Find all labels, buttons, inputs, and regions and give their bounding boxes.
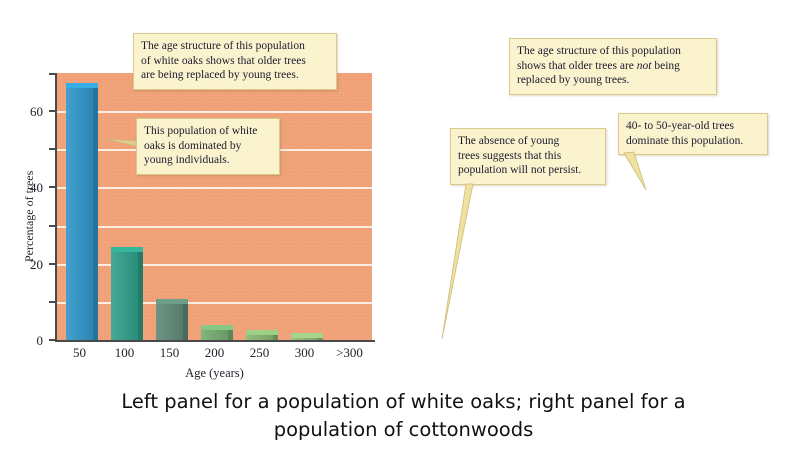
callout-line: This population of white bbox=[144, 124, 272, 139]
plot-area-left bbox=[57, 73, 372, 340]
figure-caption: Left panel for a population of white oak… bbox=[0, 388, 807, 445]
callout-line: of white oaks shows that older trees bbox=[141, 54, 329, 69]
bar-face bbox=[156, 304, 183, 340]
bar-face bbox=[66, 88, 93, 340]
x-axis-tick-label: 250 bbox=[237, 346, 282, 359]
y-axis-tick bbox=[49, 73, 56, 75]
y-axis-tick bbox=[49, 225, 56, 227]
gridline bbox=[57, 187, 372, 189]
callout-line: dominate this population. bbox=[626, 134, 760, 149]
bar bbox=[291, 333, 323, 340]
y-axis-tick bbox=[49, 110, 56, 112]
bar-side bbox=[183, 304, 188, 340]
x-axis-tick-label: >300 bbox=[327, 346, 372, 359]
callout-line: replaced by young trees. bbox=[517, 73, 709, 88]
y-axis-tick bbox=[49, 186, 56, 188]
callout-line: The age structure of this population bbox=[517, 44, 709, 59]
gridline bbox=[57, 111, 372, 113]
callout-line: The absence of young bbox=[458, 134, 598, 149]
bar bbox=[246, 330, 278, 340]
x-axis-line-left bbox=[55, 340, 375, 342]
y-axis-tick-label: 40 bbox=[13, 181, 43, 194]
gridline bbox=[57, 264, 372, 266]
bar-face bbox=[246, 335, 273, 340]
x-axis-title-left: Age (years) bbox=[57, 366, 372, 381]
x-axis-tick-label: 50 bbox=[57, 346, 102, 359]
gridline bbox=[57, 302, 372, 304]
bar-face bbox=[111, 252, 138, 340]
x-axis-tick-label: 200 bbox=[192, 346, 237, 359]
y-axis-tick-label: 20 bbox=[797, 258, 807, 271]
callout-right-40-50-dominate: 40- to 50-year-old treesdominate this po… bbox=[618, 113, 768, 155]
callout-left-dominated-young: This population of whiteoaks is dominate… bbox=[136, 118, 280, 175]
callout-line: population will not persist. bbox=[458, 163, 598, 178]
callout-emphasis: not bbox=[637, 60, 652, 72]
bar-face bbox=[291, 338, 318, 340]
callout-line: are being replaced by young trees. bbox=[141, 68, 329, 83]
bar-side bbox=[318, 338, 323, 340]
callout-left-age-structure: The age structure of this populationof w… bbox=[133, 33, 337, 90]
callout-line: young individuals. bbox=[144, 153, 272, 168]
x-axis-tick-label: 100 bbox=[102, 346, 147, 359]
callout-line: shows that older trees are not being bbox=[517, 59, 709, 74]
y-axis-tick-label: 0 bbox=[13, 334, 43, 347]
x-axis-tick-label: 150 bbox=[147, 346, 192, 359]
callout-right-age-structure: The age structure of this populationshow… bbox=[509, 38, 717, 95]
caption-line-2: population of cottonwoods bbox=[0, 416, 807, 444]
x-axis-tick-label: 300 bbox=[282, 346, 327, 359]
y-axis-tick-label: 60 bbox=[13, 105, 43, 118]
y-axis-tick-label: 0 bbox=[797, 334, 807, 347]
callout-line: trees suggests that this bbox=[458, 149, 598, 164]
bar-side bbox=[93, 88, 98, 340]
y-axis-tick-label: 60 bbox=[797, 105, 807, 118]
gridline bbox=[57, 226, 372, 228]
callout-line: 40- to 50-year-old trees bbox=[626, 119, 760, 134]
y-axis-tick-label: 40 bbox=[797, 181, 807, 194]
y-axis-tick-label: 20 bbox=[13, 258, 43, 271]
y-axis-tick bbox=[49, 148, 56, 150]
caption-line-1: Left panel for a population of white oak… bbox=[0, 388, 807, 416]
bar bbox=[111, 247, 143, 340]
bar bbox=[156, 299, 188, 340]
callout-line: oaks is dominated by bbox=[144, 139, 272, 154]
bar-side bbox=[273, 335, 278, 340]
bar-side bbox=[138, 252, 143, 340]
bar bbox=[66, 83, 98, 340]
y-axis-tick bbox=[49, 263, 56, 265]
bar bbox=[201, 325, 233, 340]
bar-face bbox=[201, 330, 228, 340]
bar-side bbox=[228, 330, 233, 340]
callout-right-absence-of-young: The absence of youngtrees suggests that … bbox=[450, 128, 606, 185]
y-axis-tick bbox=[49, 301, 56, 303]
y-axis-tick bbox=[49, 339, 56, 341]
callout-line: The age structure of this population bbox=[141, 39, 329, 54]
